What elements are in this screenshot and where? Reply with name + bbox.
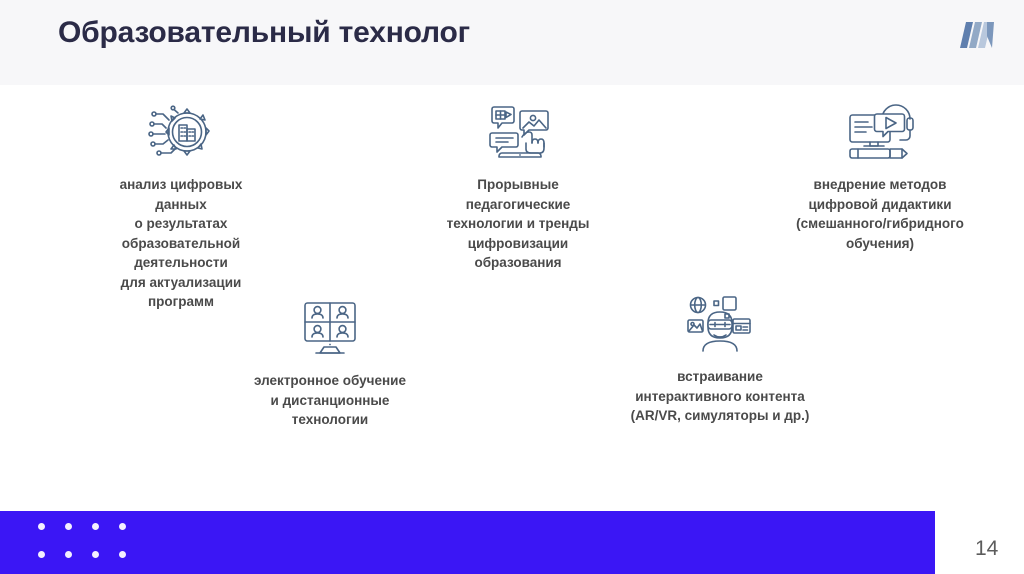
footer-dot <box>38 523 45 530</box>
content-area: анализ цифровых данных о результатах обр… <box>0 85 1024 495</box>
competency-item-label: внедрение методов цифровой дидактики (см… <box>740 175 1020 253</box>
footer-dot-grid <box>38 523 148 563</box>
monitor-play-headphones-books-icon <box>844 101 916 163</box>
footer-dot <box>38 551 45 558</box>
footer-dot <box>119 523 126 530</box>
monitor-video-grid-icon <box>294 297 366 359</box>
hand-phone-media-bubbles-icon <box>482 101 554 163</box>
page-title: Образовательный технолог <box>58 16 470 50</box>
competency-item-interactive-content: встраивание интерактивного контента (AR/… <box>560 293 880 426</box>
footer-dot <box>92 551 99 558</box>
page-number: 14 <box>975 537 998 561</box>
competency-item-breakthrough-pedagogy: Прорывные педагогические технологии и тр… <box>408 101 628 273</box>
vr-headset-person-panels-icon <box>684 293 756 355</box>
competency-item-digital-didactics: внедрение методов цифровой дидактики (см… <box>740 101 1020 253</box>
competency-item-label: Прорывные педагогические технологии и тр… <box>408 175 628 273</box>
competency-item-label: электронное обучение и дистанционные тех… <box>200 371 460 430</box>
footer-dot <box>92 523 99 530</box>
company-logo-icon <box>954 18 1002 54</box>
competency-item-elearning-distance: электронное обучение и дистанционные тех… <box>200 297 460 430</box>
footer-dot <box>65 551 72 558</box>
competency-item-data-analysis: анализ цифровых данных о результатах обр… <box>50 101 312 312</box>
competency-item-label: анализ цифровых данных о результатах обр… <box>50 175 312 312</box>
footer-dot <box>119 551 126 558</box>
competency-item-label: встраивание интерактивного контента (AR/… <box>560 367 880 426</box>
gear-buildings-circuit-icon <box>145 101 217 163</box>
footer-dot <box>65 523 72 530</box>
slide-canvas: Образовательный технолог <box>0 0 1024 574</box>
